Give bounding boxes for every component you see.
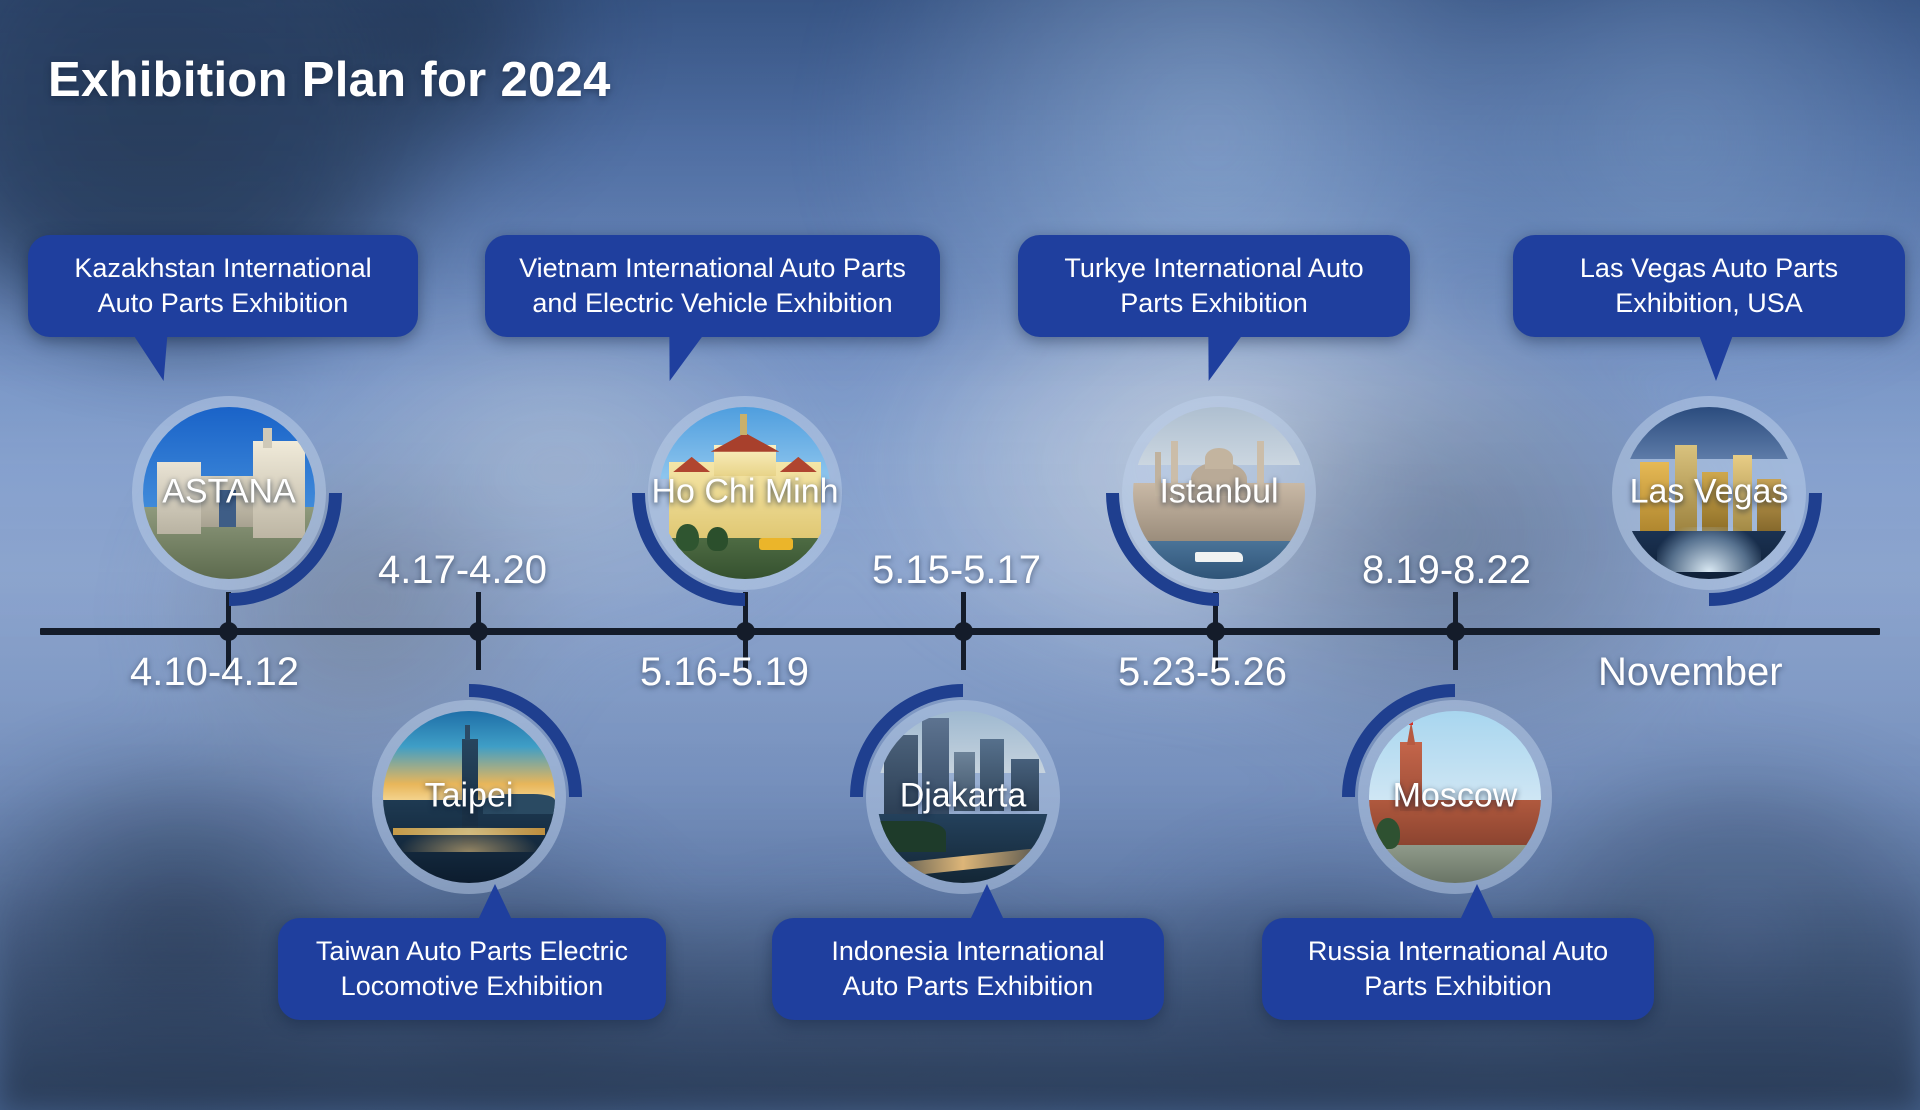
callout-taiwan[interactable]: Taiwan Auto Parts Electric Locomotive Ex…: [278, 918, 666, 1020]
medallion-djakarta-label: Djakarta: [866, 777, 1060, 816]
medallion-moscow[interactable]: Moscow: [1358, 700, 1552, 894]
callout-taiwan-line2: Locomotive Exhibition: [300, 969, 644, 1004]
date-astana: 4.10-4.12: [130, 650, 299, 695]
callout-indonesia-tail: [970, 884, 1004, 920]
medallion-taipei-label: Taipei: [372, 777, 566, 816]
medallion-moscow-label: Moscow: [1358, 777, 1552, 816]
callout-kazakhstan-line2: Auto Parts Exhibition: [50, 286, 396, 321]
medallion-istanbul[interactable]: Istanbul: [1122, 396, 1316, 590]
callout-turkye[interactable]: Turkye International Auto Parts Exhibiti…: [1018, 235, 1410, 337]
date-istanbul: 5.23-5.26: [1118, 650, 1287, 695]
callout-turkye-line1: Turkye International Auto: [1040, 251, 1388, 286]
callout-lasvegas-line1: Las Vegas Auto Parts: [1535, 251, 1883, 286]
medallion-istanbul-label: Istanbul: [1122, 473, 1316, 512]
medallion-lasvegas-label: Las Vegas: [1612, 473, 1806, 512]
medallion-djakarta[interactable]: Djakarta: [866, 700, 1060, 894]
date-moscow: 8.19-8.22: [1362, 548, 1531, 593]
date-hochiminh: 5.16-5.19: [640, 650, 809, 695]
callout-russia[interactable]: Russia International Auto Parts Exhibiti…: [1262, 918, 1654, 1020]
date-djakarta: 5.15-5.17: [872, 548, 1041, 593]
callout-kazakhstan[interactable]: Kazakhstan International Auto Parts Exhi…: [28, 235, 418, 337]
medallion-taipei[interactable]: Taipei: [372, 700, 566, 894]
callout-russia-line1: Russia International Auto: [1284, 934, 1632, 969]
callout-turkye-line2: Parts Exhibition: [1040, 286, 1388, 321]
page-title: Exhibition Plan for 2024: [48, 52, 611, 108]
callout-vietnam-line1: Vietnam International Auto Parts: [507, 251, 918, 286]
infographic-canvas: Exhibition Plan for 2024 Kazakhstan Inte…: [0, 0, 1920, 1110]
callout-vietnam-line2: and Electric Vehicle Exhibition: [507, 286, 918, 321]
date-lasvegas: November: [1598, 650, 1783, 695]
callout-russia-line2: Parts Exhibition: [1284, 969, 1632, 1004]
callout-indonesia-line1: Indonesia International: [794, 934, 1142, 969]
medallion-astana-label: ASTANA: [132, 473, 326, 512]
callout-indonesia[interactable]: Indonesia International Auto Parts Exhib…: [772, 918, 1164, 1020]
callout-vietnam[interactable]: Vietnam International Auto Parts and Ele…: [485, 235, 940, 337]
medallion-hochiminh[interactable]: Ho Chi Minh: [648, 396, 842, 590]
callout-lasvegas-line2: Exhibition, USA: [1535, 286, 1883, 321]
medallion-lasvegas[interactable]: Las Vegas: [1612, 396, 1806, 590]
callout-indonesia-line2: Auto Parts Exhibition: [794, 969, 1142, 1004]
callout-kazakhstan-line1: Kazakhstan International: [50, 251, 396, 286]
medallion-astana[interactable]: ASTANA: [132, 396, 326, 590]
date-taipei: 4.17-4.20: [378, 548, 547, 593]
callout-lasvegas[interactable]: Las Vegas Auto Parts Exhibition, USA: [1513, 235, 1905, 337]
callout-taiwan-tail: [478, 884, 512, 920]
callout-lasvegas-tail: [1699, 335, 1733, 381]
callout-russia-tail: [1460, 884, 1494, 920]
callout-taiwan-line1: Taiwan Auto Parts Electric: [300, 934, 644, 969]
medallion-hochiminh-label: Ho Chi Minh: [648, 473, 842, 512]
